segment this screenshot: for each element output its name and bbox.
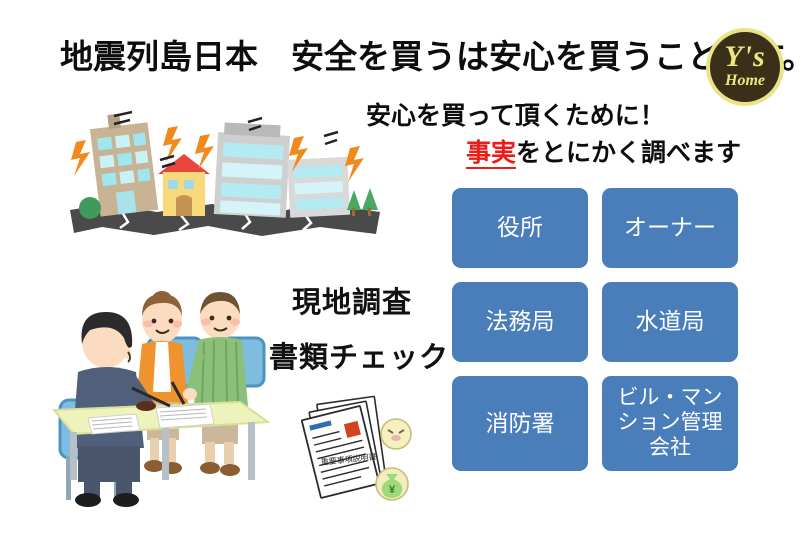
subtitle-line-2: 事実をとにかく調べます — [466, 133, 741, 169]
bush — [79, 197, 101, 219]
subtitle-rest: をとにかく調べます — [516, 139, 741, 167]
caption-site-survey: 現地調査 — [292, 279, 412, 321]
subtitle-line-1: 安心を買って頂くために！ — [366, 96, 665, 132]
checklist-item-shoboisho[interactable]: 消防署 — [452, 376, 588, 471]
caption-document-check: 書類チェック — [269, 334, 449, 376]
logo-mark-text: Y's — [706, 40, 784, 74]
checklist-item-building-management[interactable]: ビル・マン ション管理 会社 — [602, 376, 738, 471]
money-bag-icon: ¥ — [376, 468, 408, 500]
earthquake-buildings-illustration — [62, 100, 392, 245]
svg-text:¥: ¥ — [389, 484, 396, 496]
hanko-case — [136, 401, 156, 411]
checklist-item-owner[interactable]: オーナー — [602, 188, 738, 268]
building-grey-tall — [214, 122, 291, 218]
consultation-meeting-illustration — [44, 272, 279, 507]
checklist-grid: 役所 オーナー 法務局 水道局 消防署 ビル・マン ション管理 会社 — [452, 188, 742, 493]
checklist-item-yakusho[interactable]: 役所 — [452, 188, 588, 268]
logo-sub-text: Home — [706, 72, 784, 90]
subtitle-highlight: 事実 — [466, 139, 516, 169]
building-tan — [88, 110, 158, 216]
checklist-item-homukyoku[interactable]: 法務局 — [452, 282, 588, 362]
slide-canvas: 地震列島日本 安全を買うは安心を買うことです。 Y's Home 安心を買って頂… — [0, 0, 800, 540]
person-man-right — [183, 292, 248, 476]
important-matters-documents-illustration: 重要事項説明書 ¥ — [292, 388, 427, 508]
building-grey-right — [287, 157, 350, 218]
ys-home-logo: Y's Home — [706, 28, 784, 106]
stamp-face-icon — [381, 419, 411, 449]
page-title: 地震列島日本 安全を買うは安心を買うことです。 — [60, 38, 800, 76]
checklist-item-suidokyoku[interactable]: 水道局 — [602, 282, 738, 362]
